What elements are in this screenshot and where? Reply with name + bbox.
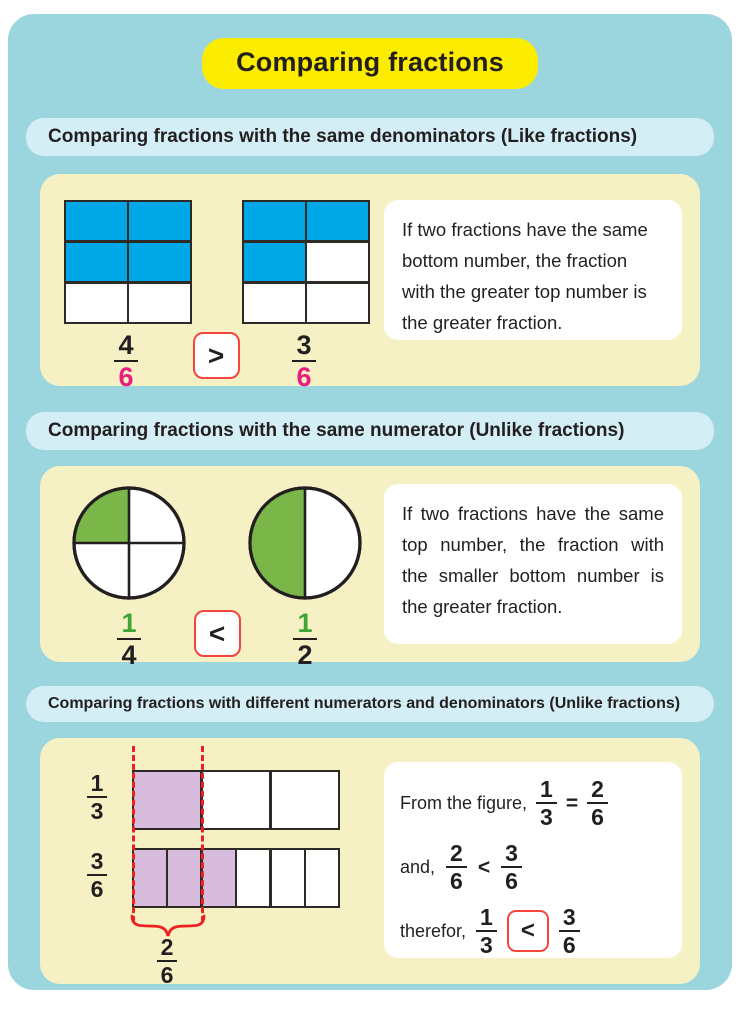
bar-segment xyxy=(134,772,200,828)
rule-text-1: If two fractions have the same bottom nu… xyxy=(402,219,648,333)
conclusion-fraction-3a: 1 3 xyxy=(476,906,497,957)
fraction-grid-left-1 xyxy=(64,200,192,324)
rule-card-2: If two fractions have the same top numbe… xyxy=(384,484,682,644)
numerator: 1 xyxy=(87,772,108,796)
grid-cell xyxy=(129,243,190,281)
numerator: 1 xyxy=(476,906,497,930)
numerator: 3 xyxy=(501,842,522,866)
rule-card-1: If two fractions have the same bottom nu… xyxy=(384,200,682,340)
numerator: 4 xyxy=(114,332,137,360)
grid-cell xyxy=(244,284,305,322)
section-header-3: Comparing fractions with different numer… xyxy=(26,686,714,722)
bar-segment xyxy=(272,772,338,828)
bar-segment xyxy=(168,850,200,906)
numerator: 2 xyxy=(157,936,178,960)
bar-segment xyxy=(272,850,304,906)
numerator: 2 xyxy=(587,778,608,802)
fraction-bar-bottom xyxy=(132,848,340,908)
conclusion-line-1-text: From the figure, xyxy=(400,788,527,819)
guide-line-right xyxy=(201,746,204,922)
bar-label-bottom: 3 6 xyxy=(76,850,118,901)
title-banner: Comparing fractions xyxy=(8,38,732,89)
fraction-circle-left-2 xyxy=(70,484,188,602)
grid-cell xyxy=(244,202,305,240)
grid-cell xyxy=(66,284,127,322)
numerator: 1 xyxy=(293,610,316,638)
comparison-badge-1: > xyxy=(182,332,250,379)
grid-cell xyxy=(66,202,127,240)
bar-segment xyxy=(134,850,166,906)
conclusion-card: From the figure, 1 3 = 2 6 and, 2 6 < xyxy=(384,762,682,958)
grid-cell xyxy=(129,284,190,322)
conclusion-fraction-3b: 3 6 xyxy=(559,906,580,957)
section-header-3-label: Comparing fractions with different numer… xyxy=(48,695,680,713)
grid-cell xyxy=(307,243,368,281)
fraction-circle-right-2 xyxy=(246,484,364,602)
brace-fraction-label: 2 6 xyxy=(136,936,198,987)
section-panel-2: 1 4 < 1 2 If two fractions have the same… xyxy=(40,466,700,662)
denominator: 3 xyxy=(536,802,557,829)
section-header-1: Comparing fractions with the same denomi… xyxy=(26,118,714,156)
section-panel-1: 4 6 > 3 6 If two fractions have the same… xyxy=(40,174,700,386)
bar-segment xyxy=(203,772,269,828)
conclusion-fraction-1a: 1 3 xyxy=(536,778,557,829)
denominator: 3 xyxy=(476,930,497,957)
page-title: Comparing fractions xyxy=(202,38,538,89)
grid-cell xyxy=(244,243,305,281)
denominator: 6 xyxy=(446,866,467,893)
denominator: 6 xyxy=(157,960,178,987)
pie-chart-one-half-icon xyxy=(246,484,364,602)
bar-segment xyxy=(237,850,269,906)
section-header-1-label: Comparing fractions with the same denomi… xyxy=(48,126,637,148)
denominator: 6 xyxy=(587,802,608,829)
bar-label-top: 1 3 xyxy=(76,772,118,823)
numerator: 3 xyxy=(292,332,315,360)
section-header-2-label: Comparing fractions with the same numera… xyxy=(48,420,624,442)
numerator: 1 xyxy=(536,778,557,802)
comparison-symbol: < xyxy=(194,610,241,657)
numerator: 2 xyxy=(446,842,467,866)
conclusion-line-3: therefor, 1 3 < 3 6 xyxy=(400,900,666,962)
guide-line-left xyxy=(132,746,135,922)
grid-cell xyxy=(129,202,190,240)
conclusion-fraction-1b: 2 6 xyxy=(587,778,608,829)
conclusion-line-1: From the figure, 1 3 = 2 6 xyxy=(400,772,666,834)
fraction-label-right-1: 3 6 xyxy=(242,332,366,391)
denominator: 3 xyxy=(87,796,108,823)
denominator: 6 xyxy=(501,866,522,893)
section-header-2: Comparing fractions with the same numera… xyxy=(26,412,714,450)
comparison-symbol: > xyxy=(193,332,240,379)
bar-segment xyxy=(306,850,338,906)
fraction-label-right-2: 1 2 xyxy=(246,610,364,669)
comparison-badge-2: < xyxy=(188,610,246,657)
denominator: 6 xyxy=(114,360,137,391)
fraction-grid-right-1 xyxy=(242,200,370,324)
conclusion-operator-1: = xyxy=(566,788,578,819)
conclusion-line-2: and, 2 6 < 3 6 xyxy=(400,834,666,900)
pie-chart-one-quarter-icon xyxy=(70,484,188,602)
denominator: 2 xyxy=(293,638,316,669)
conclusion-comparison-badge: < xyxy=(507,910,549,952)
conclusion-fraction-2b: 3 6 xyxy=(501,842,522,893)
denominator: 6 xyxy=(87,874,108,901)
grid-cell xyxy=(307,202,368,240)
section-panel-3: 1 3 3 6 xyxy=(40,738,700,984)
numerator: 1 xyxy=(117,610,140,638)
numerator: 3 xyxy=(87,850,108,874)
grid-cell xyxy=(66,243,127,281)
bar-segment xyxy=(203,850,235,906)
fraction-label-left-2: 1 4 xyxy=(70,610,188,669)
rule-text-2: If two fractions have the same top numbe… xyxy=(402,503,664,617)
conclusion-line-2-text: and, xyxy=(400,852,435,883)
grid-cell xyxy=(307,284,368,322)
fraction-bar-top xyxy=(132,770,340,830)
fraction-label-left-1: 4 6 xyxy=(64,332,188,391)
denominator: 4 xyxy=(117,638,140,669)
conclusion-line-3-text: therefor, xyxy=(400,916,466,947)
denominator: 6 xyxy=(559,930,580,957)
numerator: 3 xyxy=(559,906,580,930)
conclusion-operator-2: < xyxy=(478,852,490,883)
worksheet-card: Comparing fractions Comparing fractions … xyxy=(8,14,732,990)
conclusion-fraction-2a: 2 6 xyxy=(446,842,467,893)
denominator: 6 xyxy=(292,360,315,391)
